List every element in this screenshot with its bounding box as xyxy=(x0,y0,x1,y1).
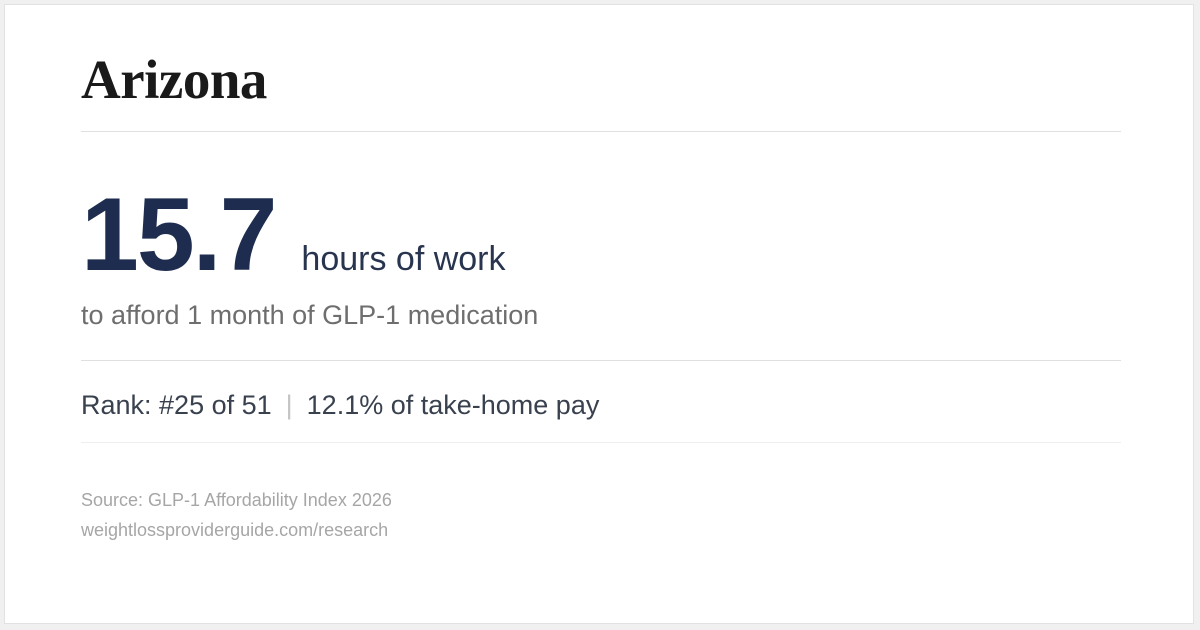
rank-label: Rank: #25 of 51 xyxy=(81,387,272,423)
divider-bottom xyxy=(81,442,1121,443)
divider-middle xyxy=(81,360,1121,361)
headline-stat: 15.7 hours of work xyxy=(81,183,506,287)
divider-top xyxy=(81,131,1121,132)
stat-value: 15.7 xyxy=(81,183,275,287)
card-content: Arizona 15.7 hours of work to afford 1 m… xyxy=(81,5,1121,623)
stat-caption: to afford 1 month of GLP-1 medication xyxy=(81,297,538,333)
stat-unit-label: hours of work xyxy=(301,242,505,276)
footer-url: weightlossproviderguide.com/research xyxy=(81,515,392,545)
page-title: Arizona xyxy=(81,49,267,111)
footer-source: Source: GLP-1 Affordability Index 2026 xyxy=(81,485,392,515)
meta-row: Rank: #25 of 51 | 12.1% of take-home pay xyxy=(81,387,599,423)
stat-card: Arizona 15.7 hours of work to afford 1 m… xyxy=(4,4,1194,624)
footer: Source: GLP-1 Affordability Index 2026 w… xyxy=(81,485,392,545)
take-home-share-label: 12.1% of take-home pay xyxy=(307,387,600,423)
meta-separator: | xyxy=(286,387,293,423)
